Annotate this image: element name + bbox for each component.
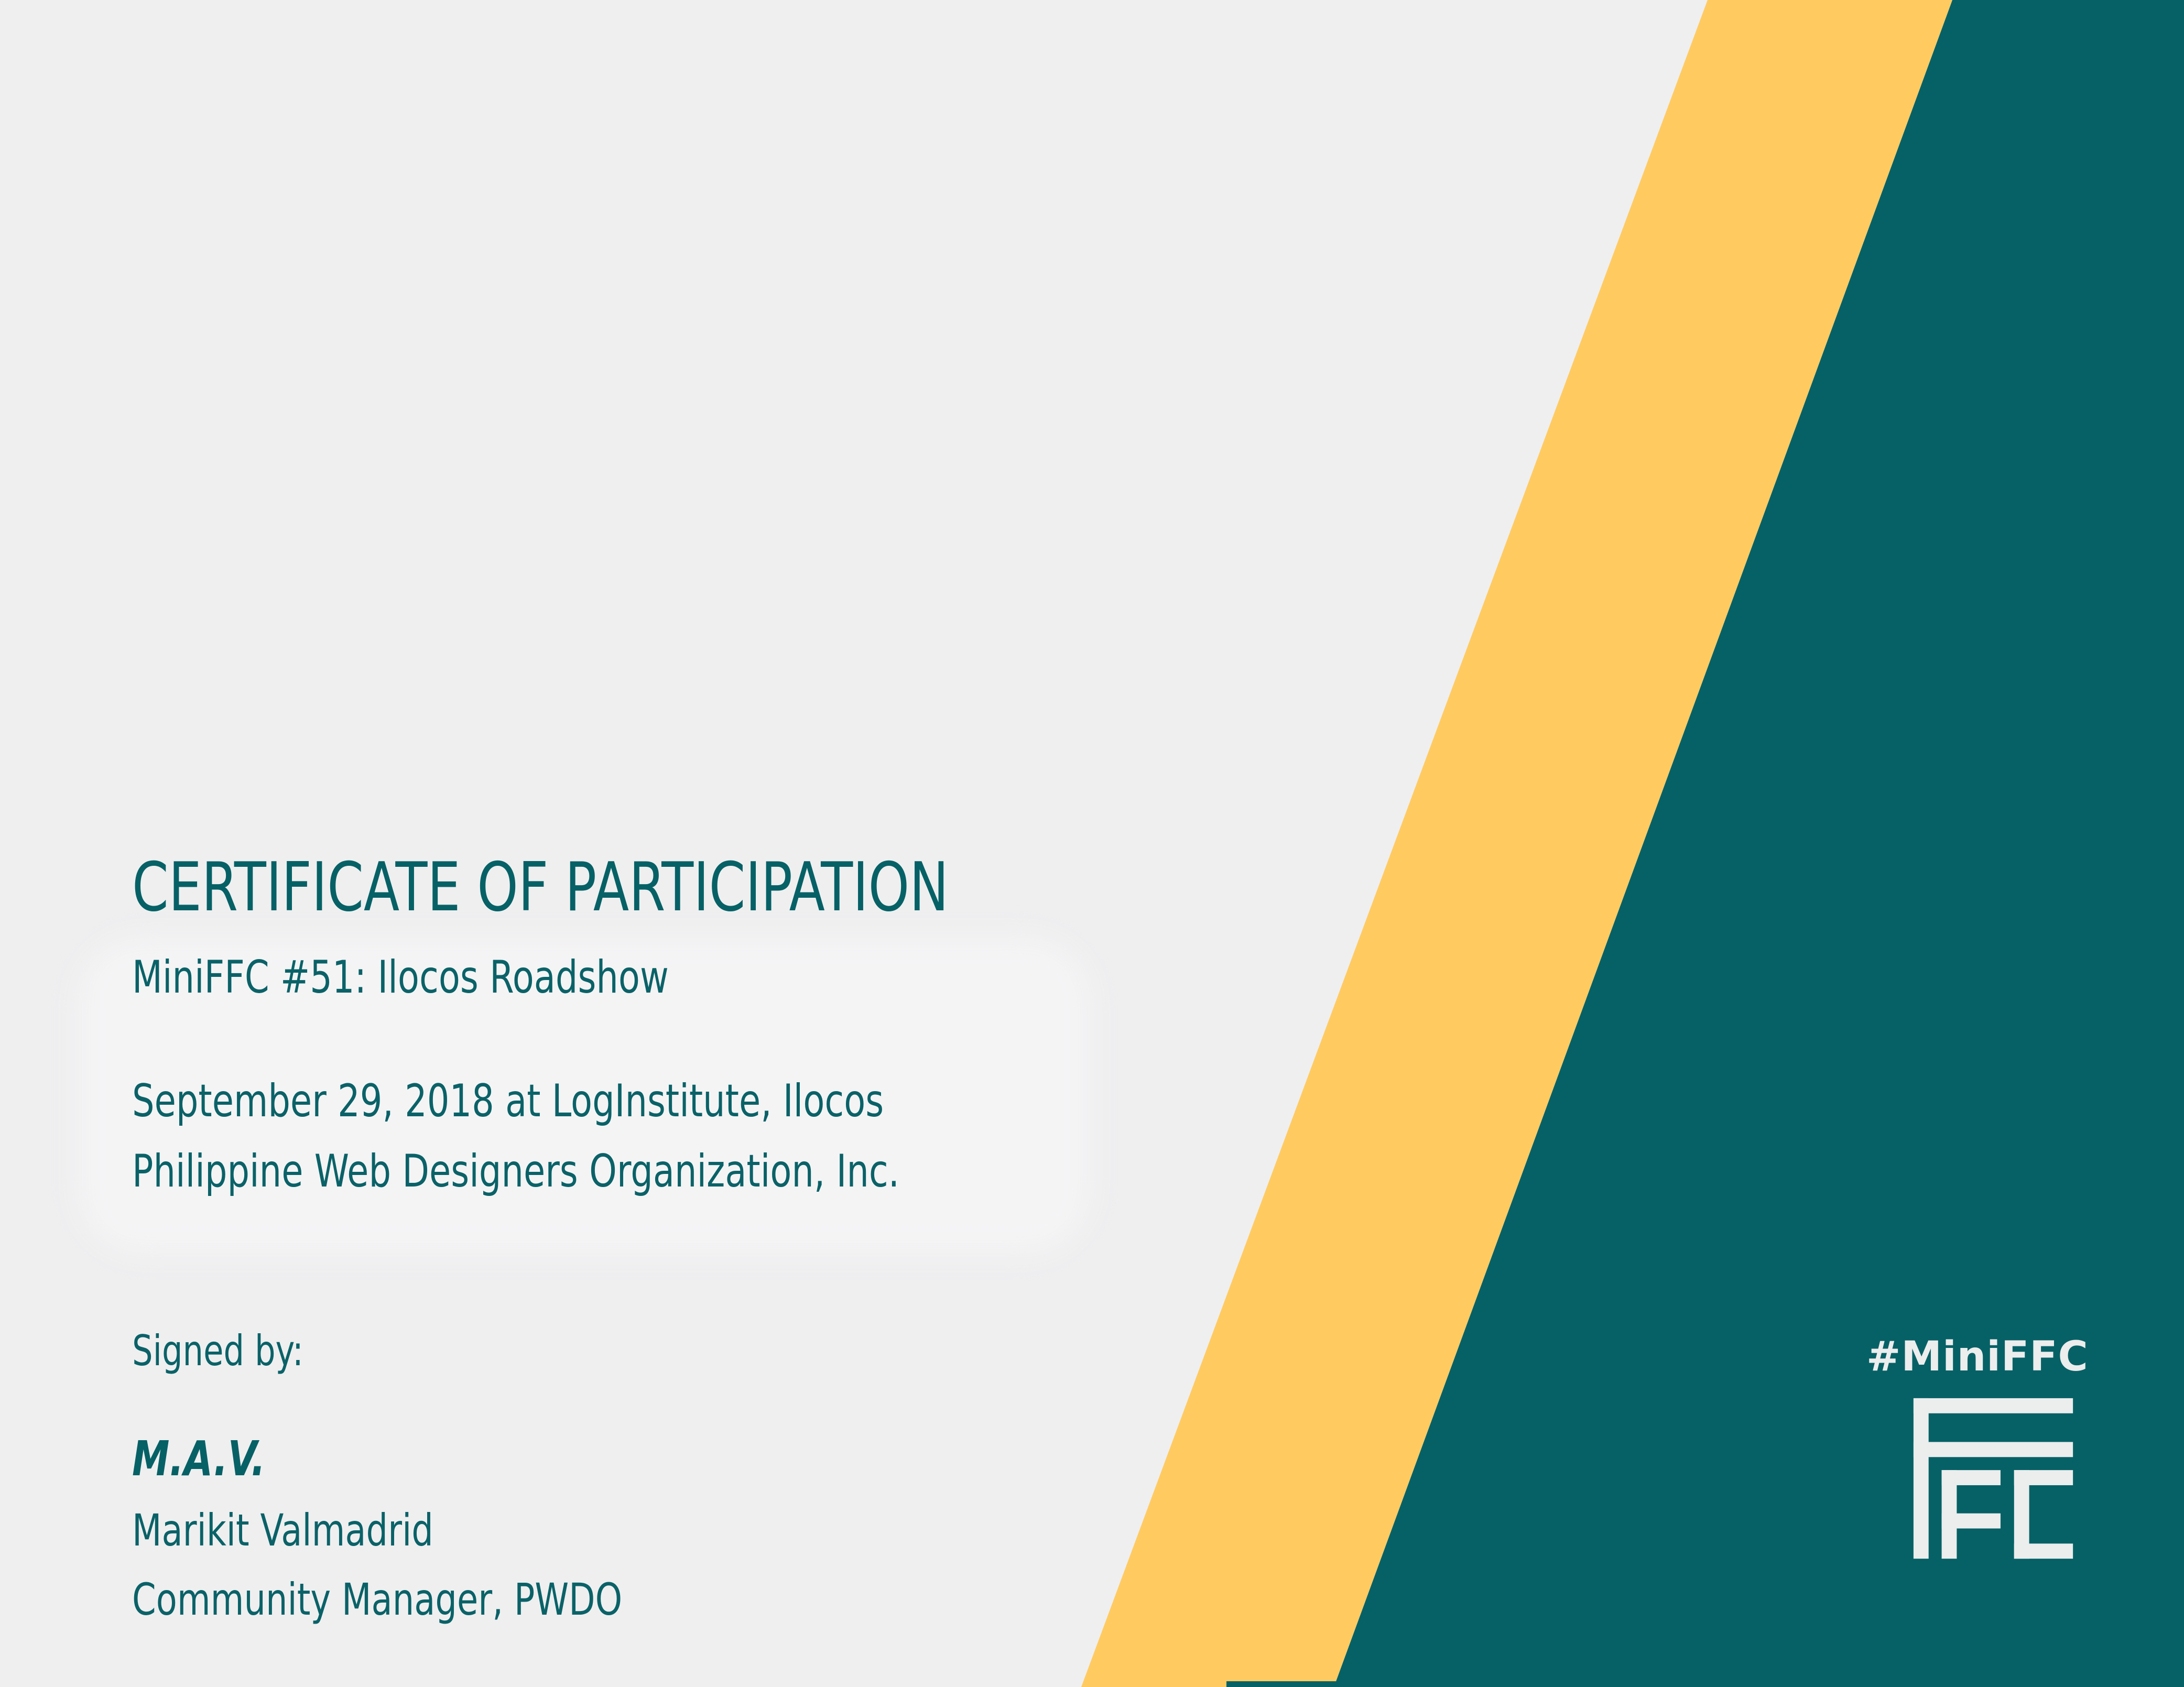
teal-footer-rule xyxy=(1226,1681,2184,1687)
certificate-subtitle: MiniFFC #51: Ilocos Roadshow xyxy=(132,955,1011,1000)
signature-mark: M.A.V. xyxy=(132,1435,1011,1483)
signer-role: Community Manager, PWDO xyxy=(132,1577,1011,1621)
certificate-content: CERTIFICATE OF PARTICIPATION MiniFFC #51… xyxy=(132,854,1259,1621)
brand-hashtag: #MiniFFC xyxy=(1866,1336,2084,1377)
certificate-title: CERTIFICATE OF PARTICIPATION xyxy=(132,854,1011,921)
signed-by-label: Signed by: xyxy=(132,1330,1011,1372)
ffc-logo-icon xyxy=(1904,1392,2087,1574)
signature-block: Signed by: M.A.V. Marikit Valmadrid Comm… xyxy=(132,1330,1259,1621)
signer-name: Marikit Valmadrid xyxy=(132,1508,1011,1552)
organization-line: Philippine Web Designers Organization, I… xyxy=(132,1149,1011,1194)
certificate-details: September 29, 2018 at LogInstitute, Iloc… xyxy=(132,1079,1259,1194)
certificate-page: CERTIFICATE OF PARTICIPATION MiniFFC #51… xyxy=(0,0,2184,1687)
event-date-venue-line: September 29, 2018 at LogInstitute, Iloc… xyxy=(132,1079,1011,1124)
brand-lockup: #MiniFFC xyxy=(1866,1336,2087,1574)
